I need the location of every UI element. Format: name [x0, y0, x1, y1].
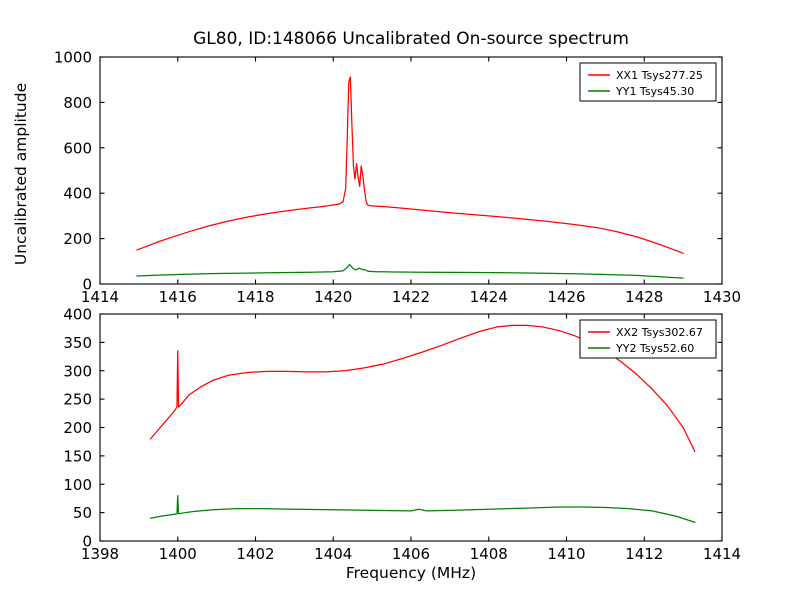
- legend-label: YY1 Tsys45.30: [615, 85, 694, 98]
- x-tick-label: 1410: [547, 545, 585, 563]
- y-tick-label: 250: [63, 391, 92, 409]
- page-title: GL80, ID:148066 Uncalibrated On-source s…: [193, 29, 629, 49]
- x-tick-label: 1412: [625, 545, 663, 563]
- x-tick-label: 1430: [703, 288, 741, 306]
- y-tick-label: 50: [73, 504, 92, 522]
- y-tick-label: 0: [82, 533, 92, 551]
- x-tick-label: 1402: [236, 545, 274, 563]
- x-tick-label: 1406: [392, 545, 430, 563]
- spectrum-figure: GL80, ID:148066 Uncalibrated On-source s…: [0, 0, 800, 600]
- x-tick-label: 1420: [314, 288, 352, 306]
- x-tick-label: 1426: [547, 288, 585, 306]
- y-tick-label: 200: [63, 419, 92, 437]
- y-tick-label: 350: [63, 334, 92, 352]
- y-tick-label: 800: [63, 94, 92, 112]
- legend: XX2 Tsys302.67YY2 Tsys52.60: [580, 320, 716, 358]
- y-tick-label: 100: [63, 476, 92, 494]
- x-tick-label: 1428: [625, 288, 663, 306]
- x-tick-label: 1422: [392, 288, 430, 306]
- x-tick-label: 1400: [159, 545, 197, 563]
- x-tick-label: 1408: [470, 545, 508, 563]
- y-tick-label: 400: [63, 185, 92, 203]
- x-axis-label: Frequency (MHz): [346, 564, 476, 582]
- y-tick-label: 150: [63, 447, 92, 465]
- legend-label: XX2 Tsys302.67: [616, 326, 703, 339]
- y-tick-label: 1000: [54, 49, 92, 67]
- y-tick-label: 200: [63, 230, 92, 248]
- legend-label: YY2 Tsys52.60: [615, 342, 694, 355]
- legend: XX1 Tsys277.25YY1 Tsys45.30: [580, 63, 716, 101]
- x-tick-label: 1416: [159, 288, 197, 306]
- x-tick-label: 1404: [314, 545, 352, 563]
- y-tick-label: 400: [63, 306, 92, 324]
- x-tick-label: 1414: [703, 545, 741, 563]
- y-tick-label: 0: [82, 276, 92, 294]
- y-tick-label: 600: [63, 139, 92, 157]
- y-axis-label: Uncalibrated amplitude: [12, 83, 30, 265]
- x-tick-label: 1418: [236, 288, 274, 306]
- legend-label: XX1 Tsys277.25: [616, 69, 703, 82]
- y-tick-label: 300: [63, 362, 92, 380]
- matplotlib-canvas: GL80, ID:148066 Uncalibrated On-source s…: [0, 0, 800, 600]
- x-tick-label: 1424: [470, 288, 508, 306]
